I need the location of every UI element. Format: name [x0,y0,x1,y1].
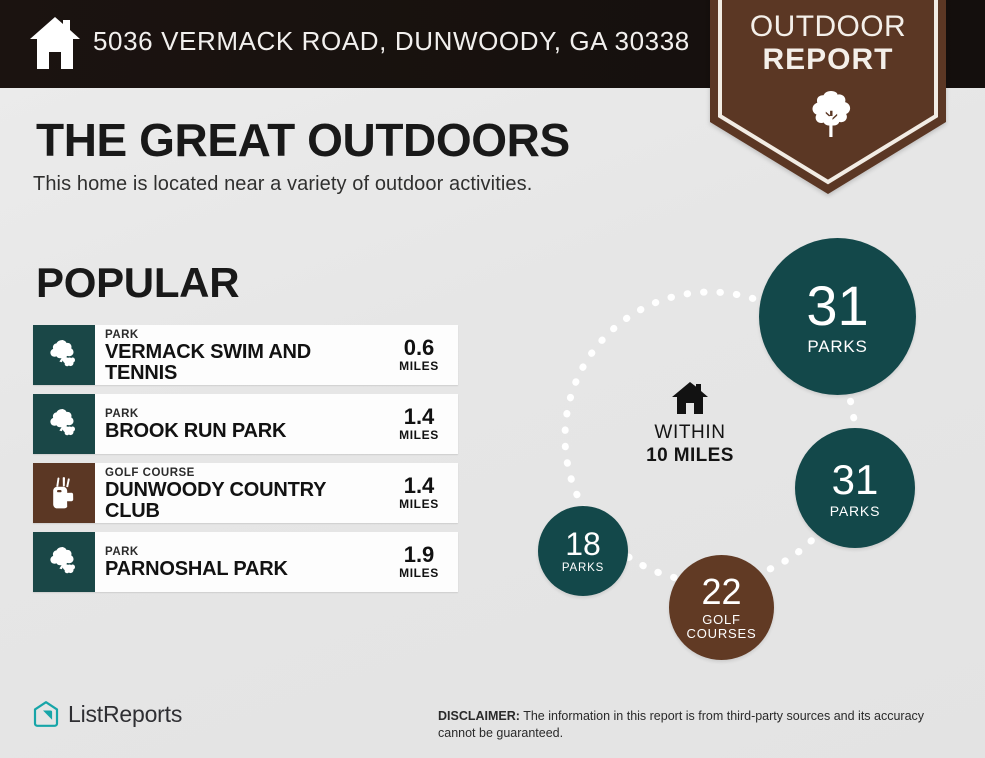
bubble-parks-left[interactable]: 18 PARKS [538,506,628,596]
item-distance: 1.4 MILES [388,475,458,512]
item-distance: 1.9 MILES [388,544,458,581]
center-line2: 10 MILES [635,445,745,467]
park-icon [33,394,95,454]
bubble-value: 22 [701,574,741,610]
page-title: THE GREAT OUTDOORS [36,113,570,167]
popular-heading: POPULAR [36,259,239,307]
bubble-value: 31 [832,459,879,501]
park-icon [33,325,95,385]
item-distance-value: 0.6 [388,337,450,359]
bubble-golf-courses[interactable]: 22 GOLF COURSES [669,555,774,660]
outdoor-report-page: 5036 VERMACK ROAD, DUNWOODY, GA 30338 OU… [0,0,985,758]
home-icon [670,380,710,416]
list-item[interactable]: PARK PARNOSHAL PARK 1.9 MILES [33,532,458,592]
item-distance-value: 1.9 [388,544,450,566]
proximity-diagram: 31 PARKS 31 PARKS 18 PARKS 22 GOLF COURS… [480,200,985,670]
page-subtitle: This home is located near a variety of o… [33,173,532,196]
home-icon [27,14,83,72]
tree-icon [811,90,851,138]
golf-icon [33,463,95,523]
item-category: PARK [105,329,388,342]
disclaimer-label: DISCLAIMER: [438,709,520,723]
bubble-label: PARKS [807,338,867,355]
bubble-parks-right[interactable]: 31 PARKS [795,428,915,548]
property-address: 5036 VERMACK ROAD, DUNWOODY, GA 30338 [93,26,690,57]
bubble-value: 31 [806,278,868,334]
item-name: DUNWOODY COUNTRY CLUB [105,480,373,522]
bubble-label: PARKS [562,563,604,575]
item-distance-value: 1.4 [388,475,450,497]
bubble-label: PARKS [830,504,880,518]
list-item[interactable]: PARK BROOK RUN PARK 1.4 MILES [33,394,458,454]
item-distance-unit: MILES [388,428,450,443]
pentagon-logo-icon [32,700,60,728]
outdoor-report-badge: OUTDOOR REPORT [710,0,946,197]
item-distance-unit: MILES [388,566,450,581]
bubble-parks-top[interactable]: 31 PARKS [759,238,916,395]
center-line1: WITHIN [635,422,745,444]
bubble-value: 18 [565,528,601,560]
item-distance-unit: MILES [388,497,450,512]
item-distance: 0.6 MILES [388,337,458,374]
listreports-logo[interactable]: ListReports [32,700,182,728]
item-category: GOLF COURSE [105,467,388,480]
list-item[interactable]: PARK VERMACK SWIM AND TENNIS 0.6 MILES [33,325,458,385]
diagram-center: WITHIN 10 MILES [635,380,745,467]
popular-list: PARK VERMACK SWIM AND TENNIS 0.6 MILES P [33,325,458,601]
list-item[interactable]: GOLF COURSE DUNWOODY COUNTRY CLUB 1.4 MI… [33,463,458,523]
item-distance-value: 1.4 [388,406,450,428]
item-name: PARNOSHAL PARK [105,559,388,580]
item-distance-unit: MILES [388,359,450,374]
item-distance: 1.4 MILES [388,406,458,443]
park-icon [33,532,95,592]
item-name: VERMACK SWIM AND TENNIS [105,342,388,384]
listreports-logo-text: ListReports [68,701,182,728]
disclaimer: DISCLAIMER: The information in this repo… [438,708,958,741]
item-name: BROOK RUN PARK [105,421,388,442]
bubble-label: GOLF COURSES [687,613,757,641]
